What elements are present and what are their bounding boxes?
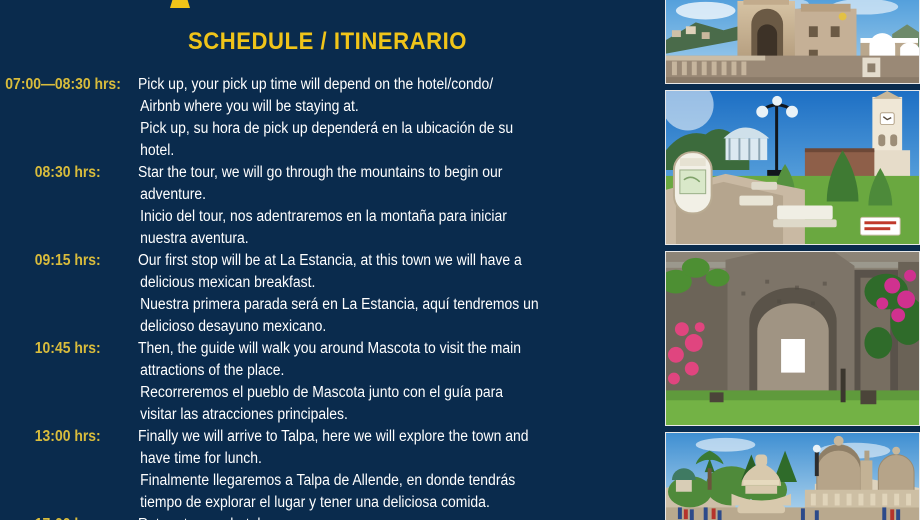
schedule-time-label: 07:00—08:30 hrs: (5, 76, 100, 94)
schedule-time-label: 08:30 hrs: (5, 164, 100, 182)
photo-town-square-kiosk (665, 90, 920, 245)
page-title: SCHEDULE / ITINERARIO (26, 28, 629, 56)
schedule-text-line: adventure. (140, 184, 628, 206)
schedule-time-label: 10:45 hrs: (5, 340, 100, 358)
schedule-text-line: attractions of the place. (140, 360, 628, 382)
schedule-content-panel: SCHEDULE / ITINERARIO 07:00—08:30 hrs: P… (0, 0, 655, 520)
schedule-time-label: 17:00 hrs: (5, 516, 100, 520)
schedule-text-line: Finally we will arrive to Talpa, here we… (133, 426, 627, 448)
schedule-text-line: Pick up, your pick up time will depend o… (133, 74, 627, 96)
schedule-time-label: 13:00 hrs: (5, 428, 100, 446)
schedule-entry: 10:45 hrs: Then, the guide will walk you… (0, 338, 655, 426)
schedule-text-line: Recorreremos el pueblo de Mascota junto … (140, 382, 628, 404)
schedule-text-line: Our first stop will be at La Estancia, a… (133, 250, 627, 272)
schedule-text-line: nuestra aventura. (140, 228, 628, 250)
photo-church-ruins (665, 251, 920, 426)
schedule-text-line: tiempo de explorar el lugar y tener una … (140, 492, 628, 514)
photo-colonial-church-plaza (665, 0, 920, 84)
photo-plaza-fountain (665, 432, 920, 520)
schedule-text-line: hotel. (140, 140, 628, 162)
schedule-text-line: delicious mexican breakfast. (140, 272, 628, 294)
schedule-entry: 08:30 hrs: Star the tour, we will go thr… (0, 162, 655, 250)
schedule-text-line: visitar las atracciones principales. (140, 404, 628, 426)
schedule-text-line: Nuestra primera parada será en La Estanc… (140, 294, 628, 316)
schedule-entry: 17:00 hrs: Return to your hotel (0, 514, 655, 520)
schedule-text-line: Airbnb where you will be staying at. (140, 96, 628, 118)
ornament-tassel-icon (165, 0, 195, 16)
schedule-text-line: Pick up, su hora de pick up dependerá en… (140, 118, 628, 140)
schedule-text-line: Star the tour, we will go through the mo… (133, 162, 627, 184)
schedule-text-line: Return to your hotel (133, 514, 627, 520)
schedule-list: 07:00—08:30 hrs: Pick up, your pick up t… (0, 74, 655, 520)
schedule-time-label: 09:15 hrs: (5, 252, 100, 270)
photo-strip (655, 0, 920, 520)
schedule-entry: 09:15 hrs: Our first stop will be at La … (0, 250, 655, 338)
schedule-text-line: delicioso desayuno mexicano. (140, 316, 628, 338)
itinerary-slide: SCHEDULE / ITINERARIO 07:00—08:30 hrs: P… (0, 0, 920, 520)
schedule-text-line: Inicio del tour, nos adentraremos en la … (140, 206, 628, 228)
schedule-text-line: Finalmente llegaremos a Talpa de Allende… (140, 470, 628, 492)
schedule-text-line: Then, the guide will walk you around Mas… (133, 338, 627, 360)
schedule-text-line: have time for lunch. (140, 448, 628, 470)
schedule-entry: 13:00 hrs: Finally we will arrive to Tal… (0, 426, 655, 514)
schedule-entry: 07:00—08:30 hrs: Pick up, your pick up t… (0, 74, 655, 162)
